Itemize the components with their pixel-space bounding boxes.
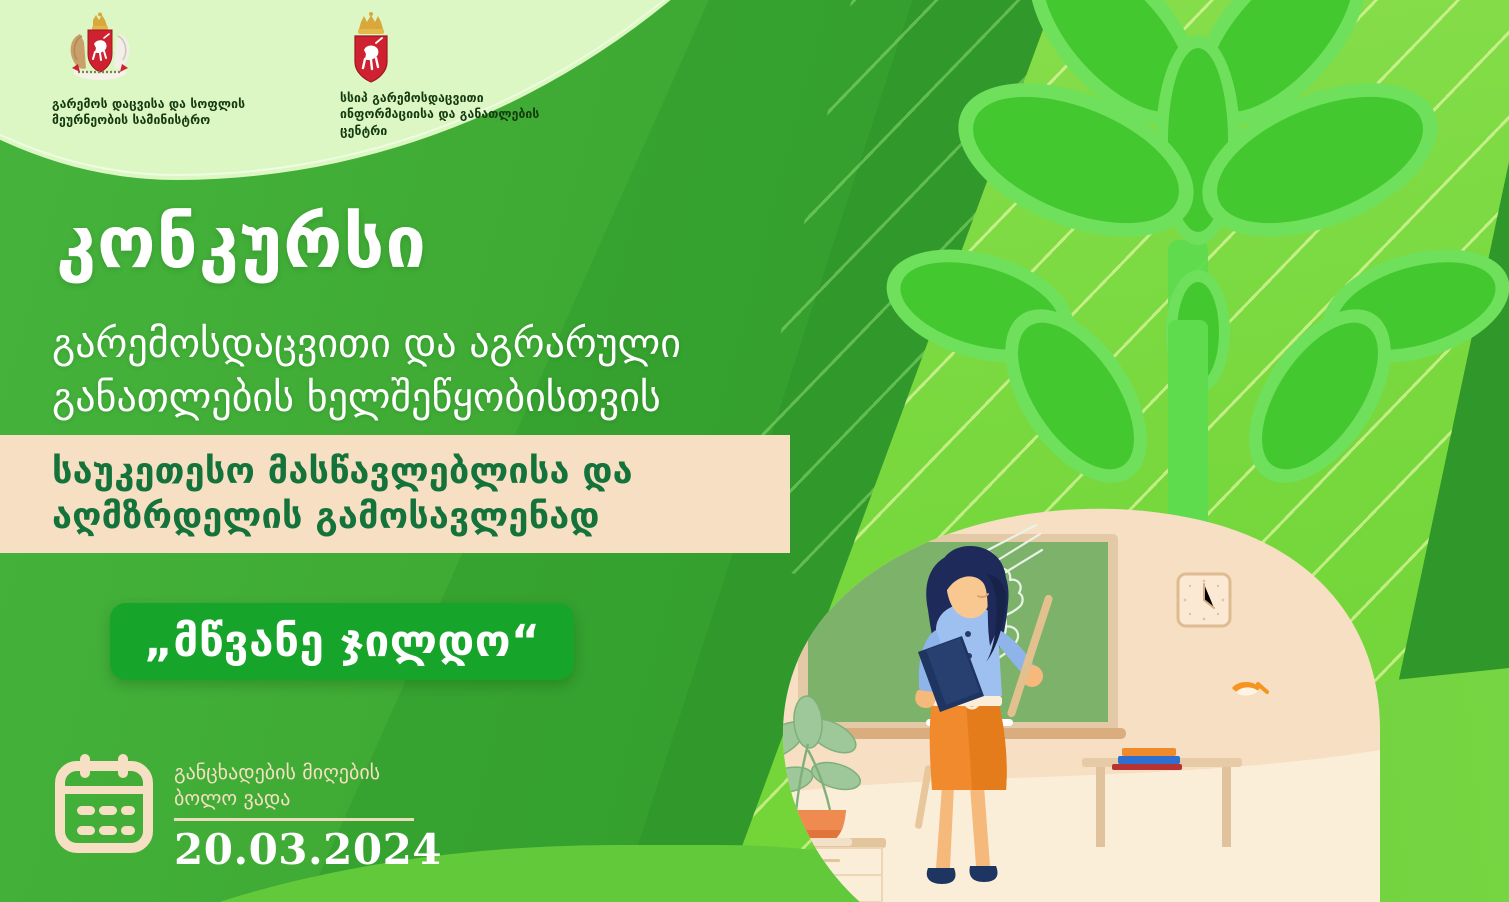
award-badge-label: „მწვანე ჯილდო“ — [144, 616, 540, 667]
deadline-label: განცხადების მიღების ბოლო ვადა — [174, 760, 442, 811]
calendar-icon — [52, 752, 156, 854]
logo-block-center: სსიპ გარემოსდაცვითი ინფორმაციისა და განა… — [340, 12, 580, 139]
award-badge: „მწვანე ჯილდო“ — [110, 603, 574, 680]
stylized-tree-leaves-icon — [880, 0, 1509, 550]
logo-caption-ministry: გარემოს დაცვისა და სოფლის მეურნეობის სამ… — [52, 96, 302, 129]
deadline-date: 20.03.2024 — [174, 825, 442, 874]
logo-caption-center: სსიპ გარემოსდაცვითი ინფორმაციისა და განა… — [340, 90, 580, 139]
page-subtitle: გარემოსდაცვითი და აგრარული განათლების ხე… — [52, 318, 792, 425]
deadline-divider — [174, 818, 414, 821]
deadline-block: განცხადების მიღების ბოლო ვადა 20.03.2024 — [52, 752, 442, 874]
highlight-text: საუკეთესო მასწავლებლისა და აღმზრდელის გა… — [0, 449, 633, 539]
shield-crown-icon — [342, 12, 400, 86]
page-title: კონკურსი — [56, 206, 427, 278]
highlight-banner: საუკეთესო მასწავლებლისა და აღმზრდელის გა… — [0, 435, 790, 553]
georgia-coat-of-arms-icon — [60, 12, 140, 90]
deadline-text-group: განცხადების მიღების ბოლო ვადა 20.03.2024 — [174, 752, 442, 874]
teacher-at-blackboard-illustration — [740, 500, 1380, 902]
header-logos: გარემოს დაცვისა და სოფლის მეურნეობის სამ… — [0, 0, 820, 160]
logo-block-ministry: გარემოს დაცვისა და სოფლის მეურნეობის სამ… — [52, 12, 302, 129]
poster-canvas: გარემოს დაცვისა და სოფლის მეურნეობის სამ… — [0, 0, 1509, 902]
